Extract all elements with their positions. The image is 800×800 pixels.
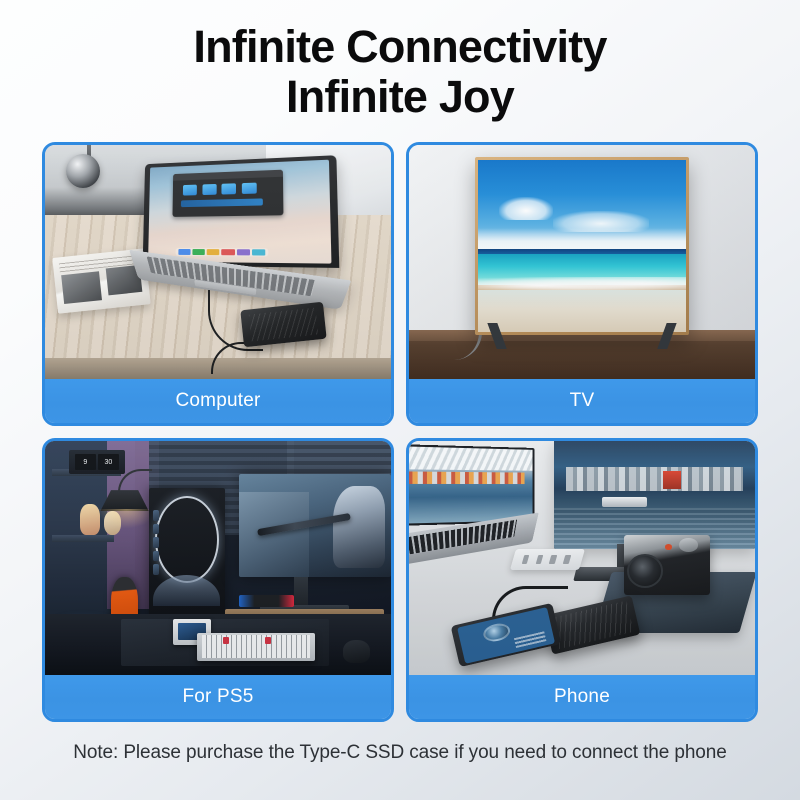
camera-dial — [679, 538, 698, 551]
mirrorless-camera — [624, 535, 711, 596]
drive-icon-4 — [242, 183, 257, 195]
footer-note: Note: Please purchase the Type-C SSD cas… — [0, 742, 800, 764]
snowy-mountains — [409, 446, 533, 471]
cloud-1 — [499, 197, 553, 219]
outlet-3 — [549, 555, 557, 563]
page-title-line-1: Infinite Connectivity — [0, 22, 800, 72]
gaming-mouse — [343, 640, 371, 663]
clock-minutes: 30 — [98, 454, 119, 471]
use-case-card-phone[interactable]: Phone — [406, 438, 758, 722]
keyboard-keys — [202, 635, 310, 658]
wallpaper-hills — [153, 575, 220, 606]
dock-icon — [153, 524, 160, 535]
computer-scene-photo — [45, 145, 391, 379]
game-structure — [239, 492, 309, 576]
laptop-keyboard — [409, 520, 517, 558]
finder-titlebar — [173, 170, 283, 181]
tv-scene-photo — [409, 145, 755, 379]
dock-icon-1 — [178, 249, 191, 255]
phone-scene-photo — [409, 441, 755, 675]
harbor-boat — [602, 497, 646, 507]
ssd-texture — [249, 308, 318, 342]
desktop-monitor — [554, 441, 755, 549]
dock-icon-3 — [207, 249, 220, 255]
drive-icon-1 — [183, 185, 197, 197]
accent-keycap-1 — [223, 637, 229, 644]
gaming-monitor — [239, 474, 391, 577]
game-character — [333, 486, 385, 568]
drive-icon-2 — [202, 184, 216, 196]
laptop-wallpaper — [409, 446, 533, 524]
tv-screen — [478, 160, 687, 332]
harbor-buildings — [566, 467, 743, 491]
lamp-glow — [97, 509, 156, 528]
header: Infinite Connectivity Infinite Joy — [0, 0, 800, 123]
laptop-screen — [409, 443, 535, 526]
finder-window — [172, 170, 283, 218]
dock-icon-5 — [237, 250, 250, 256]
card-label-phone: Phone — [409, 675, 755, 719]
game-controller — [239, 595, 294, 607]
book-photo-left — [62, 271, 102, 304]
use-case-card-tv[interactable]: TV — [406, 142, 758, 426]
use-case-card-ps5[interactable]: 9 30 — [42, 438, 394, 722]
flip-clock: 9 30 — [69, 450, 124, 473]
dock-icon — [153, 510, 160, 521]
drive-icon-3 — [222, 183, 236, 195]
camera-lens — [627, 554, 663, 588]
macos-dock — [175, 248, 269, 256]
camera-brand-dot — [665, 544, 672, 549]
vertical-monitor — [149, 488, 225, 628]
vertical-monitor-dock — [153, 510, 160, 575]
dock-icon-2 — [192, 249, 205, 255]
page-title-line-2: Infinite Joy — [0, 72, 800, 122]
wallpaper-ring — [155, 496, 219, 583]
ps5-scene-photo: 9 30 — [45, 441, 391, 675]
card-label-ps5: For PS5 — [45, 675, 391, 719]
dock-icon — [153, 564, 160, 575]
wall-shelf-lower — [52, 535, 114, 542]
harbor-red-building — [663, 471, 681, 489]
outlet-2 — [535, 555, 543, 563]
selected-file-row — [181, 199, 263, 208]
outlet-4 — [563, 555, 571, 563]
dock-icon — [153, 551, 160, 562]
outlet-1 — [521, 555, 529, 563]
card-label-tv: TV — [409, 379, 755, 423]
laptop-screen — [148, 160, 332, 264]
accent-keycap-2 — [265, 637, 271, 644]
clock-hours: 9 — [75, 454, 96, 471]
use-case-card-grid: Computer — [42, 142, 758, 722]
dock-icon-6 — [252, 250, 266, 256]
dock-icon-4 — [222, 249, 235, 255]
television — [475, 157, 690, 335]
beach-sand — [478, 290, 687, 331]
desk-lamp-icon — [66, 154, 100, 188]
mechanical-keyboard — [197, 633, 315, 661]
use-case-card-computer[interactable]: Computer — [42, 142, 394, 426]
phone-screen-text — [514, 632, 546, 648]
harbor-houses — [409, 471, 525, 484]
power-strip — [510, 549, 585, 570]
card-label-computer: Computer — [45, 379, 391, 423]
dock-icon — [153, 537, 160, 548]
phone-camera-graphic — [481, 621, 512, 644]
laptop — [128, 159, 343, 304]
